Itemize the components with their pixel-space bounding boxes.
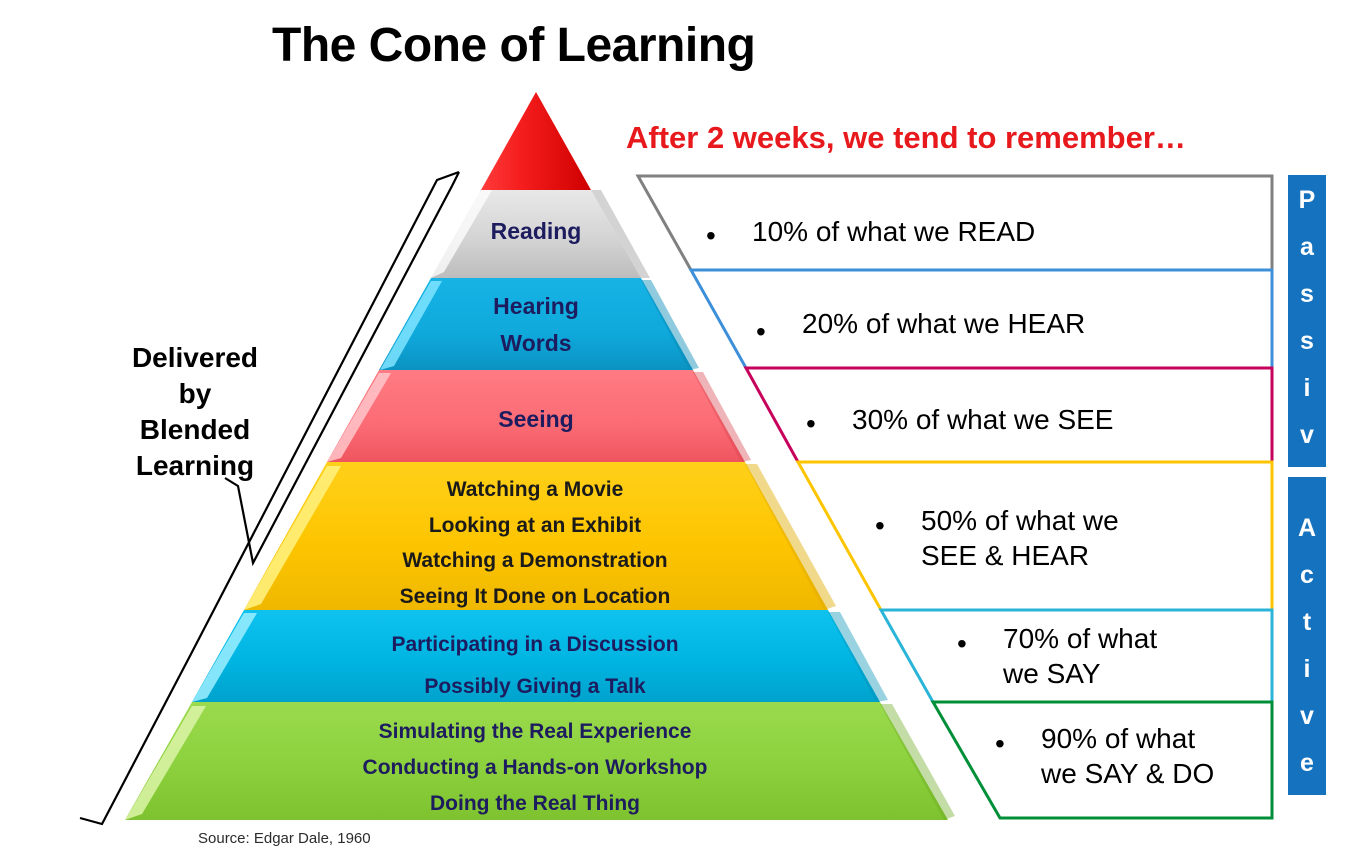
source-note: Source: Edgar Dale, 1960 — [198, 830, 371, 847]
sidebar-letter-active-1: c — [1288, 552, 1326, 599]
sidebar-letter-active-2: t — [1288, 599, 1326, 646]
callout-box-6[interactable] — [933, 702, 1272, 818]
sidebar-letter-passive-1: a — [1288, 224, 1326, 271]
pyramid-layer-watching — [244, 462, 828, 610]
sidebar-bar-active: A c t i v e — [1288, 477, 1326, 795]
callout-box-1[interactable] — [638, 176, 1272, 270]
cone-of-learning-slide: The Cone of Learning After 2 weeks, we t… — [0, 0, 1356, 859]
callout-box-4[interactable] — [798, 462, 1272, 610]
pyramid-layer-participating — [192, 610, 880, 702]
sidebar-letter-passive-0: P — [1288, 177, 1326, 224]
callout-box-5[interactable] — [881, 610, 1272, 702]
sidebar-letter-active-4: v — [1288, 693, 1326, 740]
sidebar-letter-active-3: i — [1288, 646, 1326, 693]
callout-box-3[interactable] — [746, 368, 1272, 462]
sidebar-letter-active-5: e — [1288, 740, 1326, 787]
sidebar-letter-passive-5: v — [1288, 412, 1326, 459]
pyramid-layer-doing — [125, 702, 948, 820]
sidebar-letter-passive-2: s — [1288, 271, 1326, 318]
callout-box-2[interactable] — [691, 270, 1272, 368]
sidebar-letter-active-0: A — [1288, 505, 1326, 552]
pyramid-layer-apex — [481, 92, 591, 190]
pyramid-layer-seeing — [327, 370, 745, 462]
sidebar-letter-passive-4: i — [1288, 365, 1326, 412]
sidebar-bar-passive: P a s s i v e — [1288, 175, 1326, 467]
delivered-by-blended-learning-label: Delivered by Blended Learning — [60, 340, 330, 484]
sidebar-letter-passive-3: s — [1288, 318, 1326, 365]
